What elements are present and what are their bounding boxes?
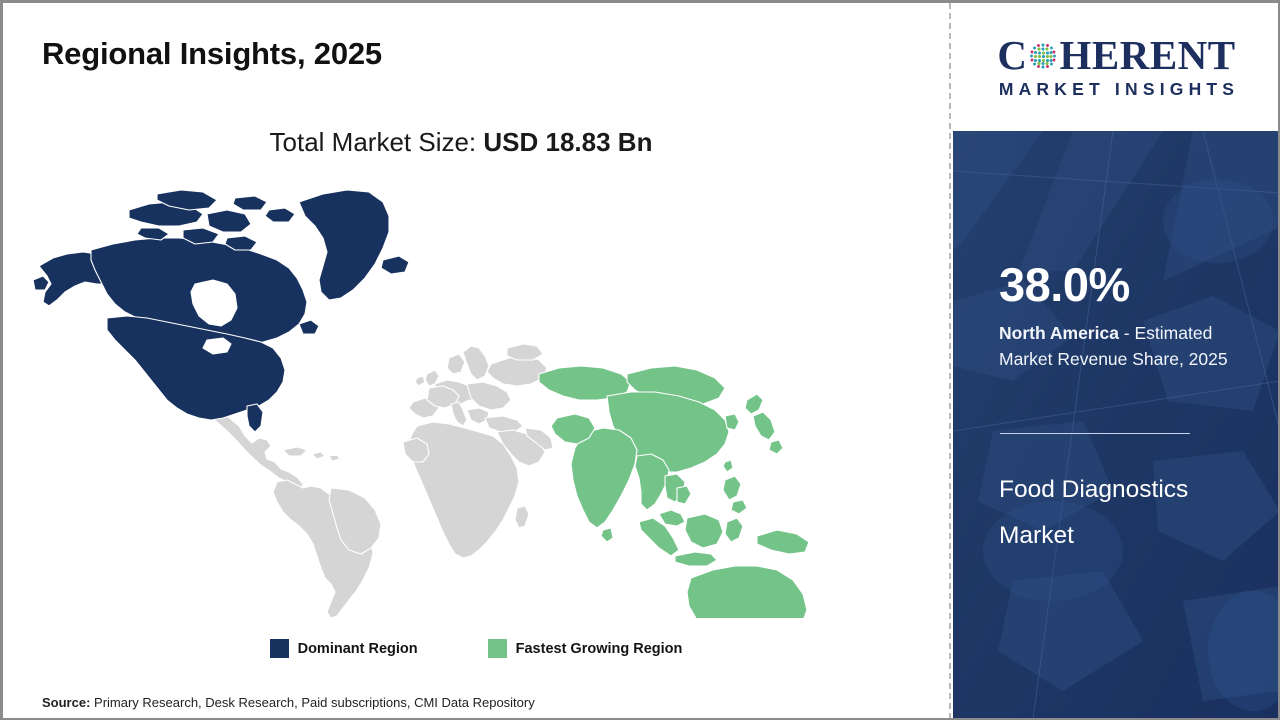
- logo-letters-herent: HERENT: [1059, 35, 1235, 76]
- map-legend: Dominant Region Fastest Growing Region: [3, 639, 949, 658]
- left-content-pane: Regional Insights, 2025 Total Market Siz…: [3, 3, 949, 719]
- legend-item-fastest-growing: Fastest Growing Region: [488, 639, 683, 658]
- total-market-size-value: USD 18.83 Bn: [483, 127, 652, 157]
- dominant-region-north-america: [33, 190, 409, 432]
- panel-divider: [949, 3, 951, 719]
- panel-content: 38.0% North America - Estimated Market R…: [999, 131, 1280, 719]
- logo-wordmark: C: [997, 35, 1235, 76]
- logo-subtitle: MARKET INSIGHTS: [994, 79, 1239, 100]
- stat-description: North America - Estimated Market Revenue…: [999, 321, 1244, 373]
- legend-item-dominant: Dominant Region: [270, 639, 418, 658]
- fastest-growing-region-asia-pacific: [539, 366, 853, 618]
- stat-percentage: 38.0%: [999, 261, 1130, 308]
- legend-label-dominant: Dominant Region: [298, 641, 418, 657]
- right-sidebar: C: [953, 3, 1280, 719]
- fastest-growing-region-swatch: [488, 639, 507, 658]
- stat-divider: [1000, 433, 1190, 434]
- dominant-region-swatch: [270, 639, 289, 658]
- page-title: Regional Insights, 2025: [42, 36, 382, 72]
- source-text: Primary Research, Desk Research, Paid su…: [90, 695, 534, 710]
- brand-logo[interactable]: C: [953, 3, 1280, 131]
- source-label: Source:: [42, 695, 90, 710]
- total-market-size-label: Total Market Size:: [270, 127, 484, 157]
- logo-letter-c: C: [997, 35, 1027, 76]
- source-footer: Source: Primary Research, Desk Research,…: [42, 695, 535, 710]
- world-map-svg: [31, 188, 861, 618]
- market-name: Food Diagnostics Market: [999, 467, 1229, 559]
- globe-dots-icon: [1028, 41, 1058, 71]
- infographic-page: Regional Insights, 2025 Total Market Siz…: [0, 0, 1280, 720]
- world-map: [31, 188, 861, 618]
- legend-label-fastest-growing: Fastest Growing Region: [516, 641, 683, 657]
- stats-panel: 38.0% North America - Estimated Market R…: [953, 131, 1280, 719]
- total-market-size: Total Market Size: USD 18.83 Bn: [3, 127, 919, 158]
- stat-region-name: North America: [999, 323, 1119, 343]
